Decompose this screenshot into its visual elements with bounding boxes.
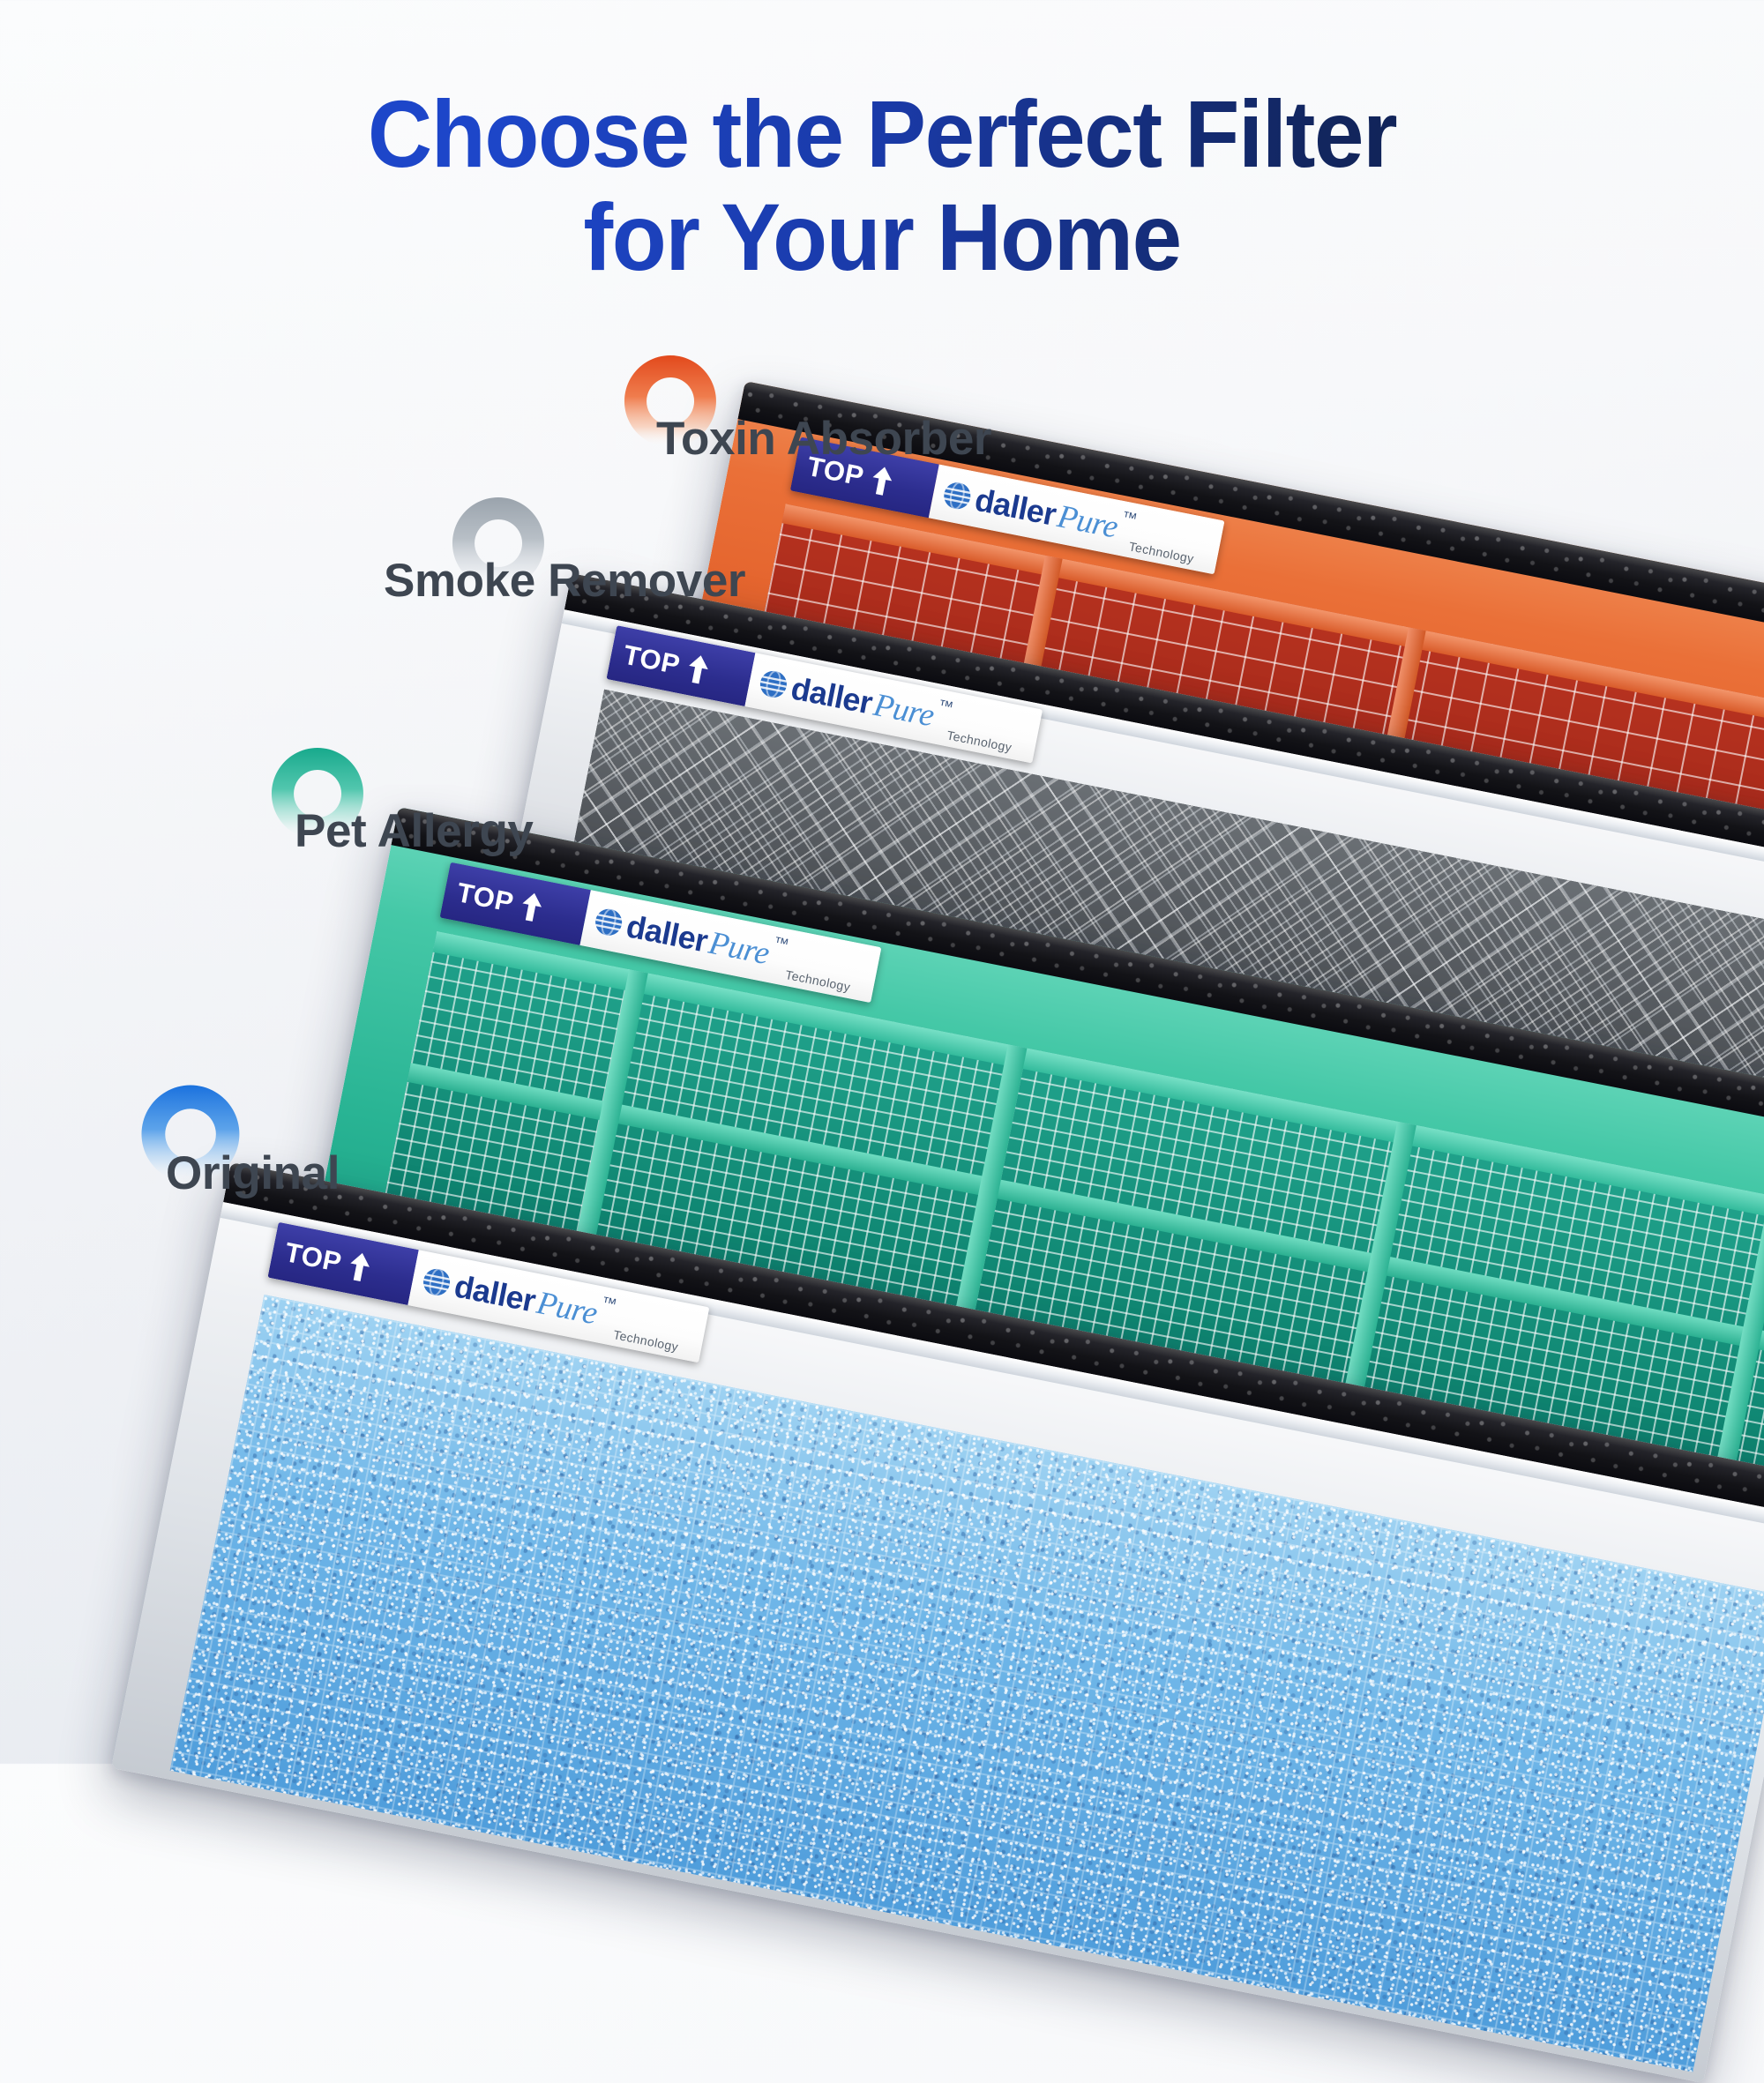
page-title-line-2: for Your Home [53,188,1711,286]
globe-icon [591,905,626,940]
top-badge-label: TOP [282,1236,344,1279]
trademark-symbol: ™ [1120,508,1139,528]
brand-name: daller [624,907,711,959]
page-title-line-1: Choose the Perfect Filter [53,85,1711,183]
globe-icon [756,667,791,702]
brand-name: daller [788,669,875,721]
infographic-canvas: Choose the Perfect Filter for Your Home … [0,0,1764,1764]
brand-subname: Pure [534,1283,601,1332]
up-arrow-icon [868,464,896,497]
brand-name: daller [972,482,1059,534]
filter-label-toxin-absorber: Toxin Absorber [656,412,991,466]
globe-icon [419,1265,454,1300]
trademark-symbol: ™ [772,934,790,954]
filter-label-original: Original [166,1146,340,1200]
page-title: Choose the Perfect Filter for Your Home [0,85,1764,286]
filter-label-pet-allergy: Pet Allergy [295,804,534,858]
brand-subname: Pure [706,923,773,972]
top-badge-label: TOP [621,639,683,682]
up-arrow-icon [684,653,712,686]
filter-label-smoke-remover: Smoke Remover [384,554,745,608]
trademark-symbol: ™ [937,697,955,717]
up-arrow-icon [517,890,545,923]
brand-subname: Pure [871,685,938,734]
globe-icon [939,478,975,513]
top-badge-label: TOP [454,877,516,919]
up-arrow-icon [345,1250,373,1283]
brand-subname: Pure [1054,497,1121,546]
trademark-symbol: ™ [600,1294,618,1314]
brand-name: daller [452,1267,539,1319]
